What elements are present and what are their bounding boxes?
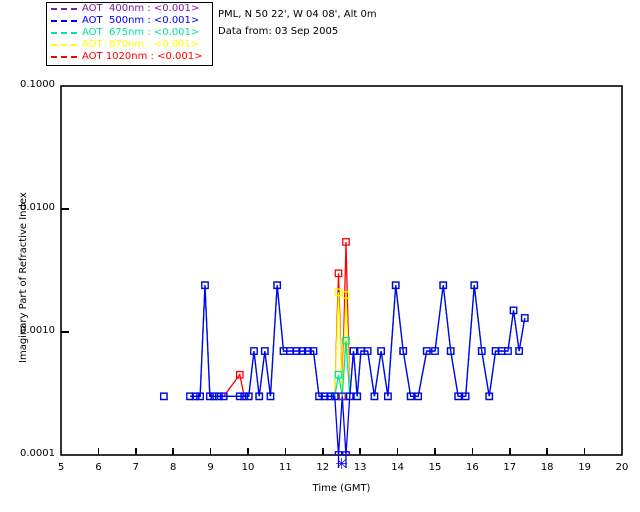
x-axis-label: Time (GMT) (302, 483, 382, 494)
x-tick (98, 448, 100, 455)
x-tick-label: 11 (265, 462, 305, 473)
x-tick-label: 9 (191, 462, 231, 473)
x-tick-label: 6 (78, 462, 118, 473)
x-tick-label: 19 (565, 462, 605, 473)
y-tick (61, 208, 69, 210)
x-tick-label: 5 (41, 462, 81, 473)
x-tick-label: 8 (153, 462, 193, 473)
x-tick (434, 448, 436, 455)
y-tick (61, 331, 69, 333)
x-tick-label: 12 (303, 462, 343, 473)
chart-screenshot: AOT 400nm : <0.001>AOT 500nm : <0.001>AO… (0, 0, 640, 512)
x-tick-label: 13 (340, 462, 380, 473)
x-tick (397, 448, 399, 455)
x-tick-label: 7 (116, 462, 156, 473)
x-tick-label: 17 (490, 462, 530, 473)
x-tick (584, 448, 586, 455)
plot-canvas: ✳ (0, 0, 640, 512)
x-tick (322, 448, 324, 455)
x-tick-label: 16 (452, 462, 492, 473)
x-tick-label: 15 (415, 462, 455, 473)
x-tick (210, 448, 212, 455)
x-tick-label: 14 (378, 462, 418, 473)
y-tick-label: 0.1000 (0, 79, 55, 90)
x-tick (472, 448, 474, 455)
x-tick (247, 448, 249, 455)
x-tick (509, 448, 511, 455)
x-tick-label: 10 (228, 462, 268, 473)
x-tick (135, 448, 137, 455)
y-axis-label: Imaginary Part of Refractive Index (18, 192, 29, 363)
x-tick (359, 448, 361, 455)
x-tick (546, 448, 548, 455)
x-tick-label: 20 (602, 462, 640, 473)
x-tick (172, 448, 174, 455)
x-tick-label: 18 (527, 462, 567, 473)
y-tick-label: 0.0001 (0, 448, 55, 459)
x-tick (285, 448, 287, 455)
